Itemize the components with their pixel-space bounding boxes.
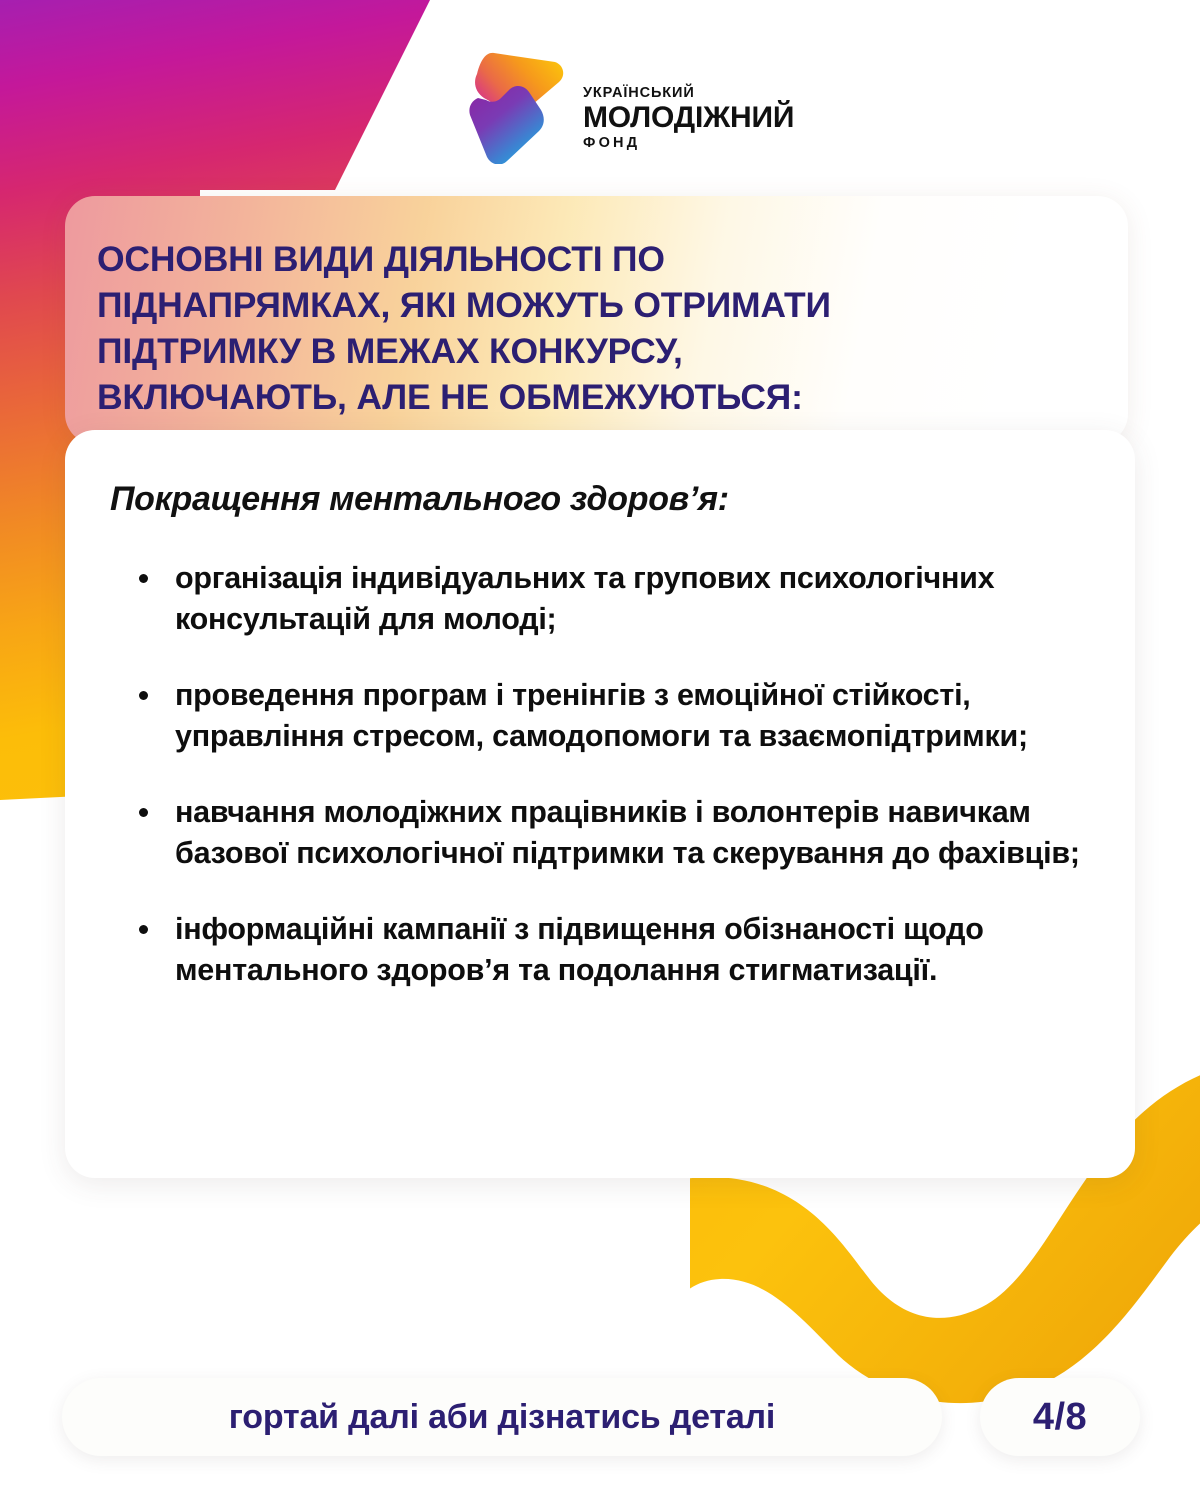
page-title: ОСНОВНІ ВИДИ ДІЯЛЬНОСТІ ПО ПІДНАПРЯМКАХ,…	[97, 236, 1097, 421]
brand-logo: УКРАЇНСЬКИЙ МОЛОДІЖНИЙ ФОНД	[463, 52, 753, 164]
list-item-text: організація індивідуальних та групових п…	[175, 561, 994, 636]
bullet-dot-icon	[139, 925, 148, 934]
list-item-text: проведення програм і тренінгів з емоційн…	[175, 678, 1028, 753]
list-item: навчання молодіжних працівників і волонт…	[123, 792, 1103, 873]
brand-wordmark: УКРАЇНСЬКИЙ МОЛОДІЖНИЙ ФОНД	[583, 86, 758, 150]
title-card: ОСНОВНІ ВИДИ ДІЯЛЬНОСТІ ПО ПІДНАПРЯМКАХ,…	[65, 196, 1128, 444]
section-subtitle: Покращення ментального здоров’я:	[110, 480, 729, 519]
page-indicator-pill: 4/8	[980, 1378, 1140, 1456]
list-item: інформаційні кампанії з підвищення обізн…	[123, 909, 1103, 990]
bullet-dot-icon	[139, 574, 148, 583]
wordmark-line-2: МОЛОДІЖНИЙ	[583, 103, 758, 133]
activities-list: організація індивідуальних та групових п…	[123, 558, 1103, 991]
wordmark-line-3: ФОНД	[583, 136, 758, 151]
list-item-text: інформаційні кампанії з підвищення обізн…	[175, 912, 984, 987]
bullet-dot-icon	[139, 691, 148, 700]
list-item: проведення програм і тренінгів з емоційн…	[123, 675, 1103, 756]
swipe-hint-pill[interactable]: гортай далі аби дізнатись деталі	[62, 1378, 942, 1456]
list-item-text: навчання молодіжних працівників і волонт…	[175, 795, 1080, 870]
content-card: Покращення ментального здоров’я: організ…	[65, 430, 1135, 1178]
bullet-dot-icon	[139, 808, 148, 817]
list-item: організація індивідуальних та групових п…	[123, 558, 1103, 639]
wordmark-line-1: УКРАЇНСЬКИЙ	[583, 86, 758, 101]
swipe-hint-label: гортай далі аби дізнатись деталі	[62, 1378, 942, 1456]
page-indicator-label: 4/8	[980, 1378, 1140, 1456]
slide-root: УКРАЇНСЬКИЙ МОЛОДІЖНИЙ ФОНД ОСНОВНІ ВИДИ…	[0, 0, 1200, 1500]
umf-logo-mark-icon	[463, 52, 569, 164]
